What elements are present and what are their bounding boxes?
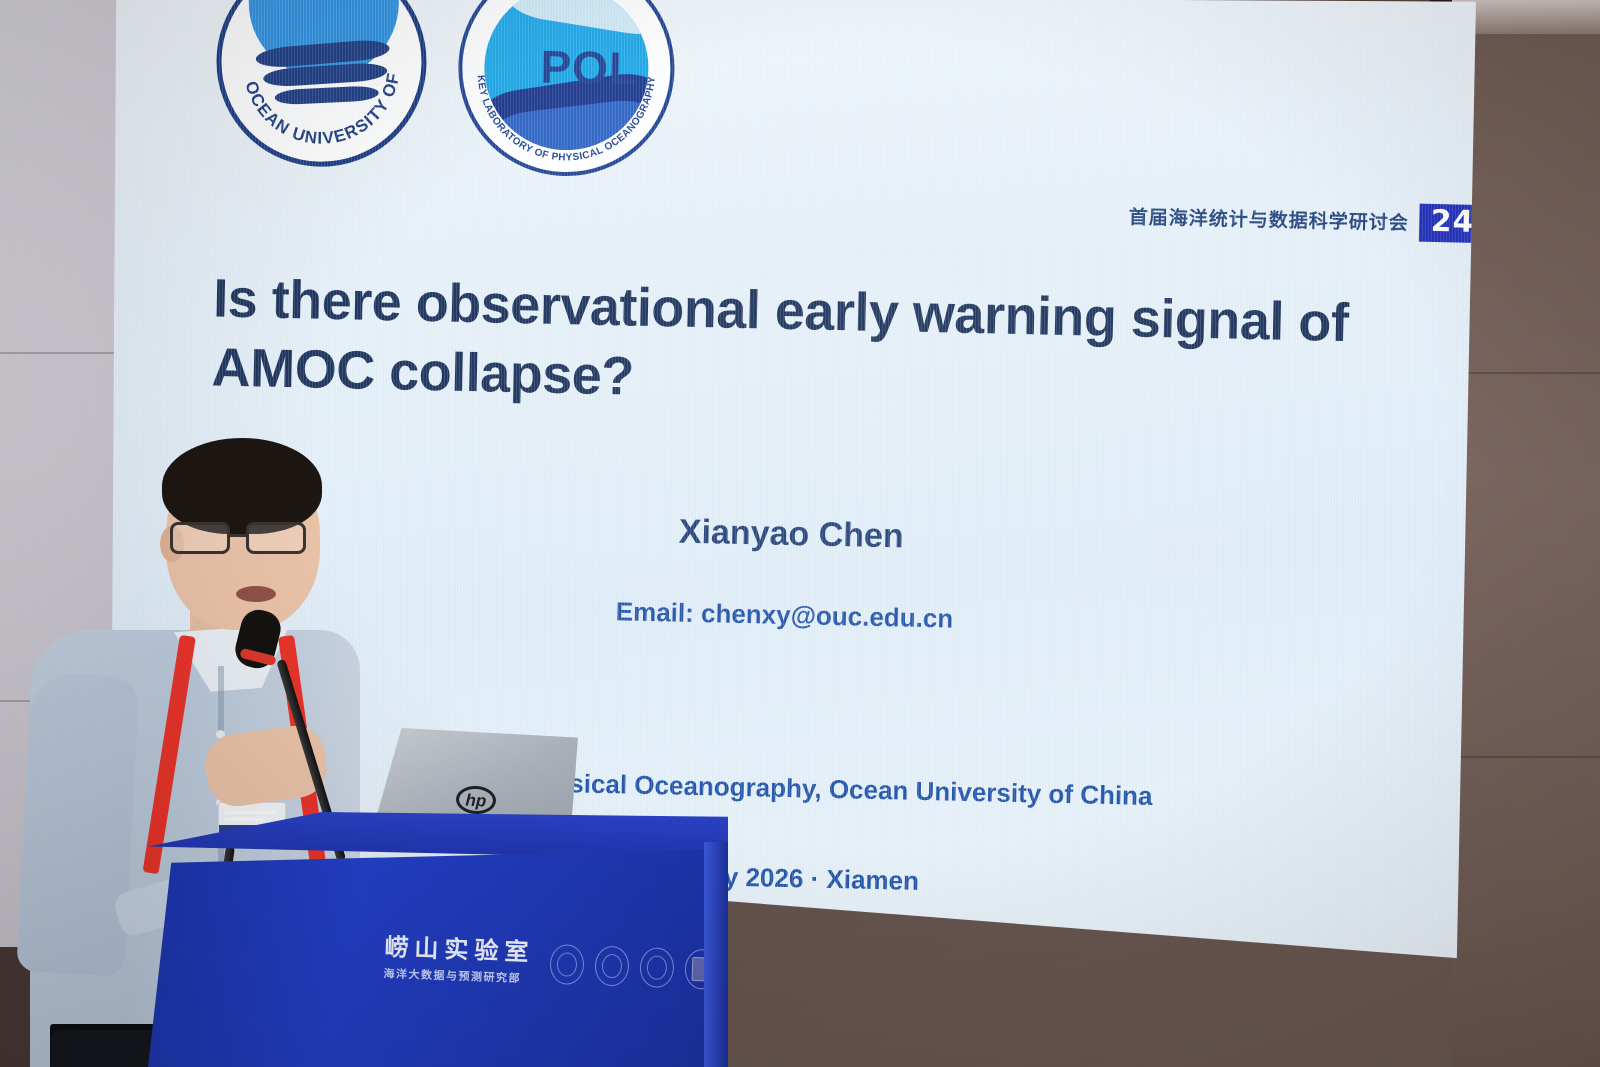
- speaker-left-arm: [16, 671, 140, 976]
- lectern-podium: 崂山实验室 海洋大数据与预测研究部: [148, 812, 728, 1067]
- speaker-hair: [162, 438, 322, 534]
- conference-title: 首届海洋统计与数据科学研讨会: [1129, 203, 1410, 236]
- institution-seal-icon: [594, 945, 629, 986]
- podium-brand-name: 崂山实验室: [384, 934, 535, 966]
- institution-seal-icon: [549, 944, 584, 985]
- svg-text:KEY LABORATORY OF PHYSICAL OCE: KEY LABORATORY OF PHYSICAL OCEANOGRAPHY …: [460, 0, 660, 166]
- institution-seal-row: [549, 944, 719, 990]
- podium-brand-subtitle: 海洋大数据与预测研究部: [383, 966, 533, 987]
- right-wall-panel: [1452, 0, 1600, 1067]
- podium-front-panel: 崂山实验室 海洋大数据与预测研究部: [148, 840, 728, 1067]
- svg-text:OCEAN UNIVERSITY OF CHINA: OCEAN UNIVERSITY OF CHINA: [219, 0, 406, 150]
- eyeglasses-icon: [168, 522, 320, 556]
- podium-branding: 崂山实验室 海洋大数据与预测研究部: [383, 934, 719, 993]
- pol-key-laboratory-logo: POL KEY LABORATORY OF PHYSICAL OCEANOGRA…: [456, 0, 677, 178]
- speaker-mouth: [236, 586, 276, 602]
- ouc-ring-text: OCEAN UNIVERSITY OF CHINA: [219, 0, 423, 164]
- podium-brand-text-block: 崂山实验室 海洋大数据与预测研究部: [383, 934, 535, 987]
- institution-seal-icon: [639, 947, 674, 988]
- ocean-university-of-china-logo: OCEAN UNIVERSITY OF CHINA: [214, 0, 429, 169]
- pol-ring-text: KEY LABORATORY OF PHYSICAL OCEANOGRAPHY …: [460, 0, 672, 174]
- slide-title: Is there observational early warning sig…: [211, 264, 1474, 430]
- podium-side-edge: [704, 842, 728, 1067]
- presentation-photo: OCEAN UNIVERSITY OF CHINA POL KEY LABORA…: [0, 0, 1600, 1067]
